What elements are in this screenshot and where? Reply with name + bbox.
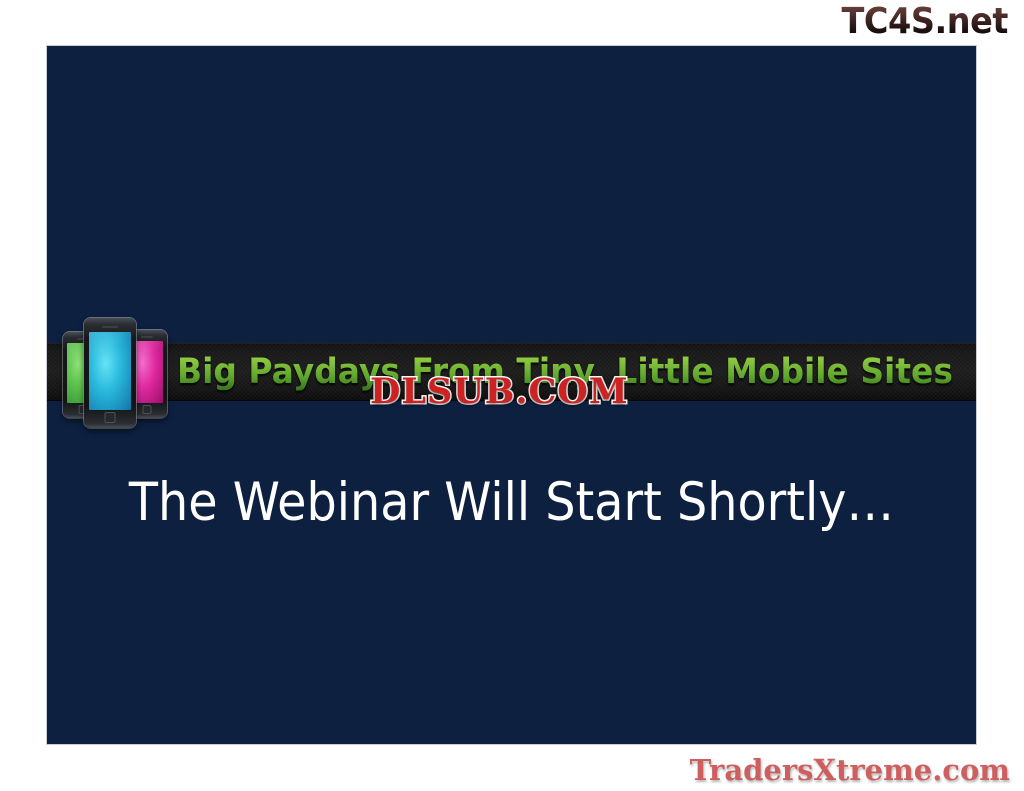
dlsub-watermark: DLSUB.COM xyxy=(370,372,629,412)
phone-speaker xyxy=(141,336,153,338)
phone-screen xyxy=(89,332,131,410)
tradersxtreme-watermark: TradersXtreme.com xyxy=(690,753,1010,787)
tc4s-watermark: TC4S.net xyxy=(842,2,1008,42)
phone-speaker xyxy=(102,326,118,328)
presentation-slide: Big Paydays From Tiny, Little Mobile Sit… xyxy=(46,45,977,745)
phone-cyan-icon xyxy=(84,318,136,428)
phone-home-button-icon xyxy=(105,412,116,423)
phones-graphic xyxy=(61,318,183,430)
phone-home-button-icon xyxy=(143,405,152,414)
slide-headline: The Webinar Will Start Shortly… xyxy=(93,471,929,535)
